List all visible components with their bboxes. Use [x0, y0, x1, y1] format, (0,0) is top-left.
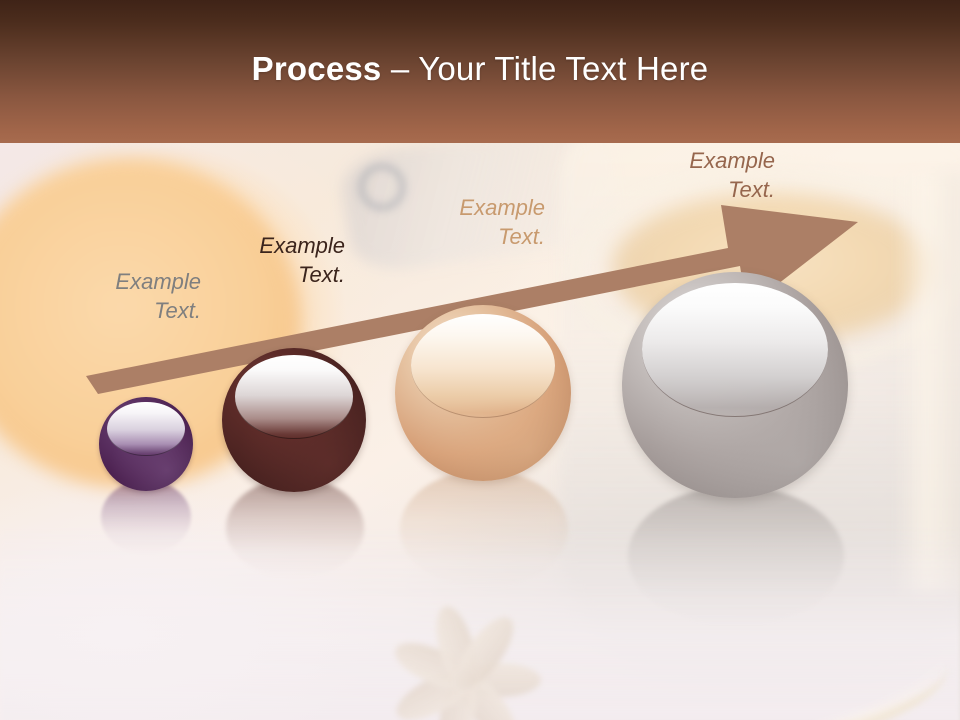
- step-1-label[interactable]: Example Text.: [36, 268, 201, 325]
- page-title-rest: Your Title Text Here: [418, 50, 708, 87]
- sphere-highlight: [235, 355, 353, 439]
- table-surface-left: [0, 473, 430, 720]
- sphere-highlight: [642, 283, 827, 416]
- page-title-bold: Process: [252, 50, 382, 87]
- step-4-sphere[interactable]: [622, 272, 848, 498]
- page-title-separator: –: [381, 50, 418, 87]
- step-2-sphere[interactable]: [222, 348, 366, 492]
- step-1-sphere[interactable]: [99, 397, 193, 491]
- presentation-slide: Example Text. Example Text. Example Text…: [0, 0, 960, 720]
- step-4-label[interactable]: Example Text.: [610, 147, 775, 204]
- page-title: Process – Your Title Text Here: [0, 50, 960, 88]
- sphere-highlight: [107, 402, 184, 457]
- title-bar: Process – Your Title Text Here: [0, 0, 960, 143]
- step-2-label[interactable]: Example Text.: [180, 232, 345, 289]
- sphere-highlight: [411, 314, 555, 418]
- step-3-label[interactable]: Example Text.: [380, 194, 545, 251]
- step-3-sphere[interactable]: [395, 305, 571, 481]
